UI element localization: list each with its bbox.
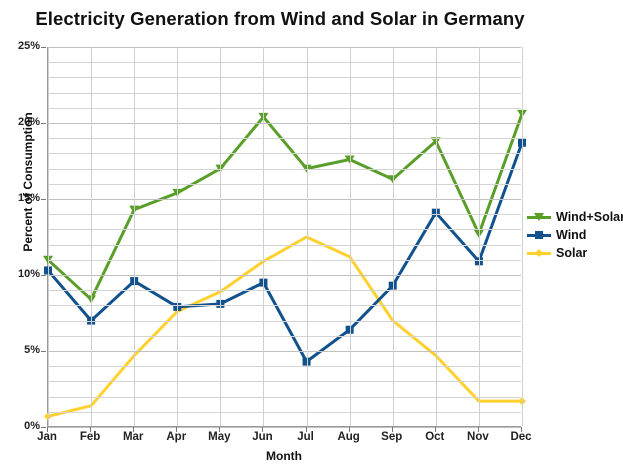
legend-swatch-triangle-down-icon [527,210,551,224]
gridline-horizontal [48,123,521,124]
y-axis-tick-mark [41,275,46,276]
y-axis-tick-mark [41,351,46,352]
gridline-horizontal [48,138,521,139]
legend-swatch-diamond-icon [527,246,551,260]
x-axis-tick-mark [306,427,307,432]
y-axis-tick-label: 25% [0,40,40,52]
series-wind [44,139,526,366]
gridline-horizontal [48,93,521,94]
gridline-vertical [522,47,523,426]
x-axis-tick-mark [521,427,522,432]
chart-container: Electricity Generation from Wind and Sol… [0,0,623,467]
gridline-horizontal [48,153,521,154]
x-axis-tick-mark [47,427,48,432]
y-axis-title: Percent of Consumption [21,102,35,262]
data-point-marker [534,213,544,221]
x-axis-title: Month [47,449,521,463]
y-axis-tick-mark [41,427,46,428]
gridline-vertical [134,47,135,426]
x-axis-tick-mark [219,427,220,432]
x-axis-tick-mark [176,427,177,432]
chart-title: Electricity Generation from Wind and Sol… [0,8,560,30]
gridline-vertical [177,47,178,426]
legend-swatch-square-icon [527,228,551,242]
gridline-vertical [436,47,437,426]
gridline-horizontal [48,381,521,382]
gridline-horizontal [48,77,521,78]
gridline-horizontal [48,199,521,200]
y-axis-tick-mark [41,123,46,124]
gridline-vertical [307,47,308,426]
gridline-horizontal [48,336,521,337]
legend-item-wind-solar[interactable]: Wind+Solar [527,208,623,226]
x-axis-tick-mark [262,427,263,432]
gridline-vertical [220,47,221,426]
gridline-vertical [350,47,351,426]
gridline-vertical [393,47,394,426]
series-solar [44,237,526,420]
gridline-horizontal [48,245,521,246]
x-axis-tick-mark [133,427,134,432]
series-line [48,237,522,416]
gridline-vertical [48,47,49,426]
gridline-vertical [479,47,480,426]
x-axis-tick-mark [90,427,91,432]
data-point-marker [535,231,543,239]
gridline-horizontal [48,397,521,398]
legend-label: Wind+Solar [556,210,623,224]
chart-legend: Wind+SolarWindSolar [527,208,623,262]
y-axis-tick-mark [41,199,46,200]
x-axis-tick-mark [478,427,479,432]
y-axis-tick-mark [41,47,46,48]
gridline-horizontal [48,169,521,170]
gridline-horizontal [48,412,521,413]
x-axis-tick-mark [349,427,350,432]
data-point-marker [535,249,543,257]
x-axis-tick-mark [435,427,436,432]
gridline-horizontal [48,275,521,276]
gridline-horizontal [48,427,521,428]
gridline-horizontal [48,62,521,63]
x-axis-tick-mark [392,427,393,432]
gridline-horizontal [48,184,521,185]
gridline-horizontal [48,229,521,230]
gridline-horizontal [48,351,521,352]
y-axis-tick-label: 10% [0,268,40,280]
legend-label: Wind [556,228,586,242]
series-lines [48,47,522,427]
legend-item-solar[interactable]: Solar [527,244,623,262]
gridline-horizontal [48,260,521,261]
plot-area [47,47,521,427]
x-axis-tick-label: Dec [491,431,551,443]
gridline-horizontal [48,321,521,322]
gridline-horizontal [48,47,521,48]
gridline-vertical [263,47,264,426]
legend-item-wind[interactable]: Wind [527,226,623,244]
series-line [48,114,522,299]
gridline-horizontal [48,214,521,215]
y-axis-tick-label: 5% [0,344,40,356]
gridline-horizontal [48,290,521,291]
gridline-vertical [91,47,92,426]
gridline-horizontal [48,108,521,109]
gridline-horizontal [48,305,521,306]
legend-label: Solar [556,246,587,260]
gridline-horizontal [48,366,521,367]
